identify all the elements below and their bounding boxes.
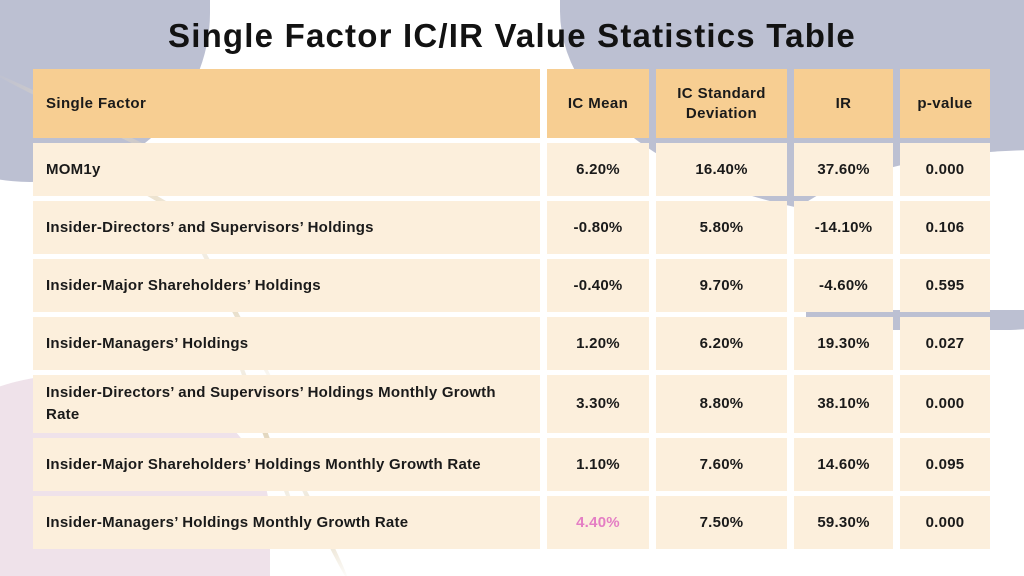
cell-ic-std: 8.80%	[656, 375, 787, 433]
ic-mean-value: 4.40%	[576, 512, 620, 534]
ir-value: -14.10%	[815, 217, 873, 239]
p-value-value: 0.027	[926, 333, 965, 355]
ic-mean-value: 1.10%	[576, 454, 620, 476]
ic-std-value: 5.80%	[700, 217, 744, 239]
ic-std-value: 8.80%	[700, 393, 744, 415]
cell-p-value: 0.000	[900, 496, 990, 549]
ic-mean-value: -0.80%	[573, 217, 622, 239]
cell-factor: Insider-Managers’ Holdings	[33, 317, 540, 370]
table-row: Insider-Directors’ and Supervisors’ Hold…	[33, 201, 999, 254]
page-title: Single Factor IC/IR Value Statistics Tab…	[0, 17, 1024, 55]
table-row: Insider-Managers’ Holdings 1.20% 6.20% 1…	[33, 317, 999, 370]
p-value-value: 0.095	[926, 454, 965, 476]
cell-p-value: 0.106	[900, 201, 990, 254]
ic-std-value: 16.40%	[695, 159, 747, 181]
cell-factor: Insider-Directors’ and Supervisors’ Hold…	[33, 201, 540, 254]
ic-std-value: 9.70%	[700, 275, 744, 297]
cell-ir: 38.10%	[794, 375, 893, 433]
header-cell-ic-mean: IC Mean	[547, 69, 649, 138]
header-cell-single-factor: Single Factor	[33, 69, 540, 138]
table-row: Insider-Major Shareholders’ Holdings -0.…	[33, 259, 999, 312]
ic-mean-value: -0.40%	[573, 275, 622, 297]
ir-value: 59.30%	[817, 512, 869, 534]
ir-value: -4.60%	[819, 275, 868, 297]
cell-ir: -4.60%	[794, 259, 893, 312]
factor-label: Insider-Directors’ and Supervisors’ Hold…	[46, 217, 374, 239]
p-value-value: 0.106	[926, 217, 965, 239]
table-row: Insider-Managers’ Holdings Monthly Growt…	[33, 496, 999, 549]
factor-label: Insider-Major Shareholders’ Holdings	[46, 275, 321, 297]
cell-factor: Insider-Major Shareholders’ Holdings	[33, 259, 540, 312]
cell-factor: MOM1y	[33, 143, 540, 196]
header-label-single-factor: Single Factor	[46, 94, 146, 114]
cell-ic-std: 9.70%	[656, 259, 787, 312]
p-value-value: 0.000	[926, 393, 965, 415]
cell-ir: 37.60%	[794, 143, 893, 196]
factor-label: Insider-Major Shareholders’ Holdings Mon…	[46, 454, 481, 476]
cell-ic-std: 16.40%	[656, 143, 787, 196]
ic-mean-value: 6.20%	[576, 159, 620, 181]
header-label-ic-mean: IC Mean	[568, 94, 628, 114]
header-label-ic-standard-deviation: IC StandardDeviation	[677, 84, 766, 124]
factor-label: Insider-Managers’ Holdings	[46, 333, 248, 355]
cell-p-value: 0.095	[900, 438, 990, 491]
ic-mean-value: 3.30%	[576, 393, 620, 415]
p-value-value: 0.000	[926, 159, 965, 181]
cell-ic-std: 7.50%	[656, 496, 787, 549]
cell-factor: Insider-Major Shareholders’ Holdings Mon…	[33, 438, 540, 491]
table-row: Insider-Directors’ and Supervisors’ Hold…	[33, 375, 999, 433]
ir-value: 38.10%	[817, 393, 869, 415]
cell-ic-mean: -0.80%	[547, 201, 649, 254]
statistics-table: Single Factor IC Mean IC StandardDeviati…	[33, 69, 999, 554]
header-cell-p-value: p-value	[900, 69, 990, 138]
cell-ic-mean: -0.40%	[547, 259, 649, 312]
cell-ir: 14.60%	[794, 438, 893, 491]
header-cell-ic-standard-deviation: IC StandardDeviation	[656, 69, 787, 138]
cell-ic-std: 6.20%	[656, 317, 787, 370]
p-value-value: 0.000	[926, 512, 965, 534]
ir-value: 37.60%	[817, 159, 869, 181]
cell-p-value: 0.000	[900, 375, 990, 433]
header-label-ir: IR	[836, 94, 852, 114]
cell-ic-mean: 3.30%	[547, 375, 649, 433]
header-label-p-value: p-value	[917, 94, 972, 114]
ic-mean-value: 1.20%	[576, 333, 620, 355]
cell-factor: Insider-Managers’ Holdings Monthly Growt…	[33, 496, 540, 549]
factor-label: MOM1y	[46, 159, 101, 181]
ic-std-value: 7.50%	[700, 512, 744, 534]
header-cell-ir: IR	[794, 69, 893, 138]
cell-ic-mean: 1.10%	[547, 438, 649, 491]
cell-ir: -14.10%	[794, 201, 893, 254]
table-row: MOM1y 6.20% 16.40% 37.60% 0.000	[33, 143, 999, 196]
ic-std-value: 7.60%	[700, 454, 744, 476]
ic-std-value: 6.20%	[700, 333, 744, 355]
cell-ic-mean: 4.40%	[547, 496, 649, 549]
factor-label: Insider-Managers’ Holdings Monthly Growt…	[46, 512, 408, 534]
cell-p-value: 0.027	[900, 317, 990, 370]
table-header-row: Single Factor IC Mean IC StandardDeviati…	[33, 69, 999, 138]
slide-canvas: Single Factor IC/IR Value Statistics Tab…	[0, 0, 1024, 576]
ir-value: 19.30%	[817, 333, 869, 355]
cell-p-value: 0.595	[900, 259, 990, 312]
cell-ic-mean: 1.20%	[547, 317, 649, 370]
cell-p-value: 0.000	[900, 143, 990, 196]
factor-label: Insider-Directors’ and Supervisors’ Hold…	[46, 382, 532, 426]
cell-ir: 19.30%	[794, 317, 893, 370]
ir-value: 14.60%	[817, 454, 869, 476]
table-row: Insider-Major Shareholders’ Holdings Mon…	[33, 438, 999, 491]
p-value-value: 0.595	[926, 275, 965, 297]
cell-factor: Insider-Directors’ and Supervisors’ Hold…	[33, 375, 540, 433]
cell-ir: 59.30%	[794, 496, 893, 549]
cell-ic-mean: 6.20%	[547, 143, 649, 196]
cell-ic-std: 7.60%	[656, 438, 787, 491]
cell-ic-std: 5.80%	[656, 201, 787, 254]
